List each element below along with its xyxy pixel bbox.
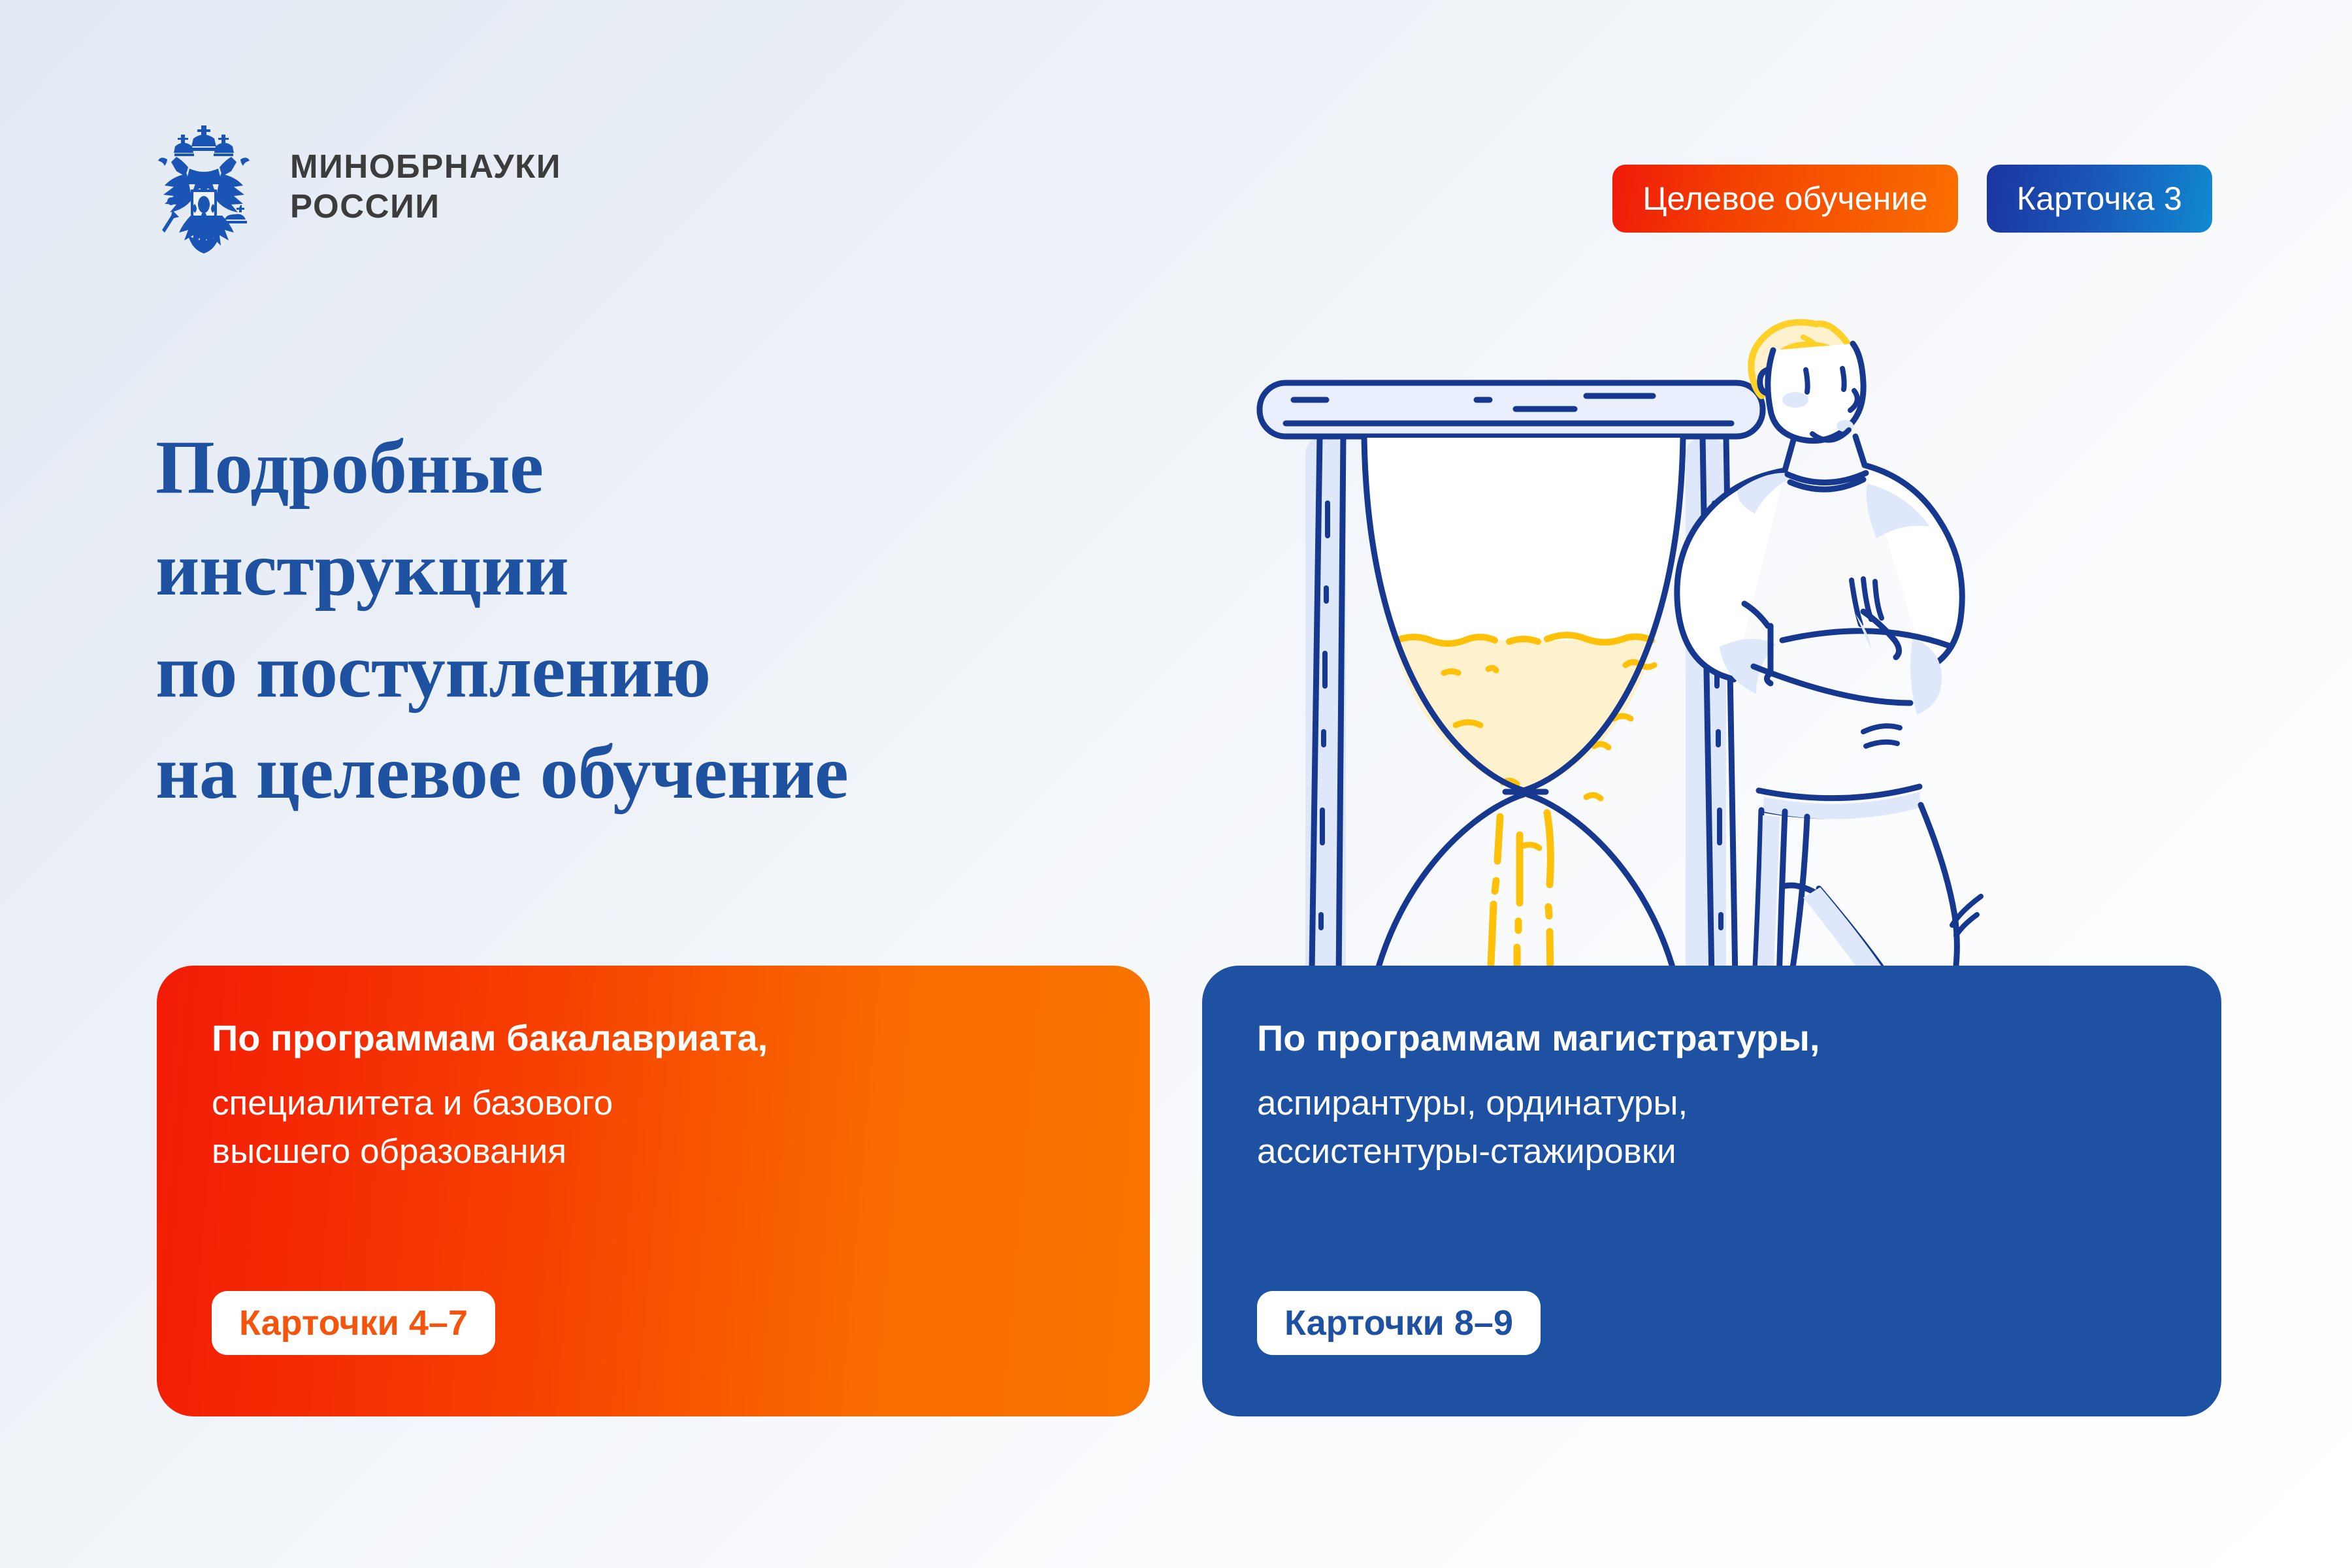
card-subtitle: аспирантуры, ординатуры, ассистентуры-ст… xyxy=(1257,1079,2166,1176)
header-badges: Целевое обучение Карточка 3 xyxy=(1612,165,2212,233)
badge-topic[interactable]: Целевое обучение xyxy=(1612,165,1957,233)
ministry-logo: МИНОБРНАУКИ РОССИИ xyxy=(149,118,561,255)
card-master-programs[interactable]: По программам магистратуры, аспирантуры,… xyxy=(1202,966,2221,1416)
ministry-name: МИНОБРНАУКИ РОССИИ xyxy=(290,146,561,226)
card-subtitle: специалитета и базового высшего образова… xyxy=(212,1079,1095,1176)
card-title: По программам магистратуры, xyxy=(1257,1017,2166,1060)
badge-card-number[interactable]: Карточка 3 xyxy=(1987,165,2212,233)
russian-coat-of-arms-icon xyxy=(149,118,259,255)
poster-canvas: МИНОБРНАУКИ РОССИИ Целевое обучение Карт… xyxy=(0,0,2352,1568)
pill-cards-4-7[interactable]: Карточки 4–7 xyxy=(212,1291,495,1355)
card-bachelor-programs[interactable]: По программам бакалавриата, специалитета… xyxy=(157,966,1150,1416)
hourglass-with-standing-man-illustration xyxy=(1228,274,2182,1058)
card-title: По программам бакалавриата, xyxy=(212,1017,1095,1060)
page-title: Подробные инструкции по поступлению на ц… xyxy=(155,417,1318,823)
pill-cards-8-9[interactable]: Карточки 8–9 xyxy=(1257,1291,1541,1355)
